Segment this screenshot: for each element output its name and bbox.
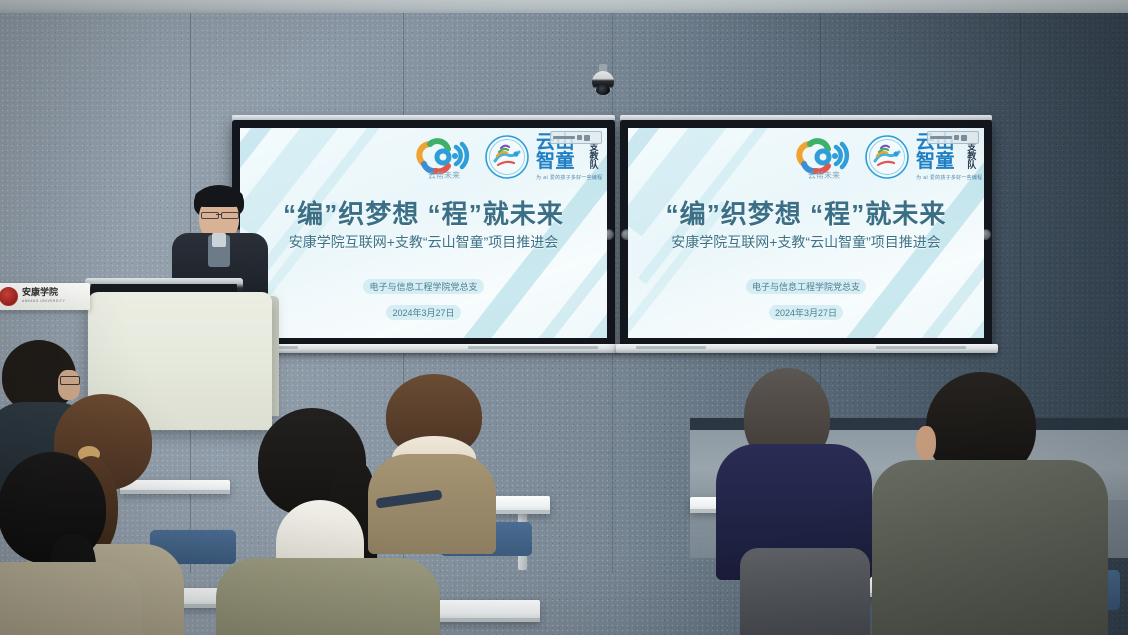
conference-room-photo: 云帮未来 — [0, 0, 1128, 635]
left-display[interactable]: 云帮未来 — [232, 120, 615, 348]
cloud-logo-label: 云帮未来 — [428, 170, 460, 180]
left-slide-org-wrap: 电子与信息工程学院党总支 — [240, 279, 607, 294]
cloud-logo-label: 云帮未来 — [808, 170, 840, 180]
left-display-panel[interactable]: 云帮未来 — [240, 128, 607, 338]
cloud-logo-icon: 云帮未来 — [410, 134, 478, 180]
yunshan-badge-icon — [485, 135, 529, 179]
camera-body — [592, 71, 614, 93]
right-display-shelf — [616, 344, 998, 353]
right-slide-subtitle: 安康学院互联网+支教“云山智童”项目推进会 — [628, 232, 984, 252]
cloud-logo-icon: 云帮未来 — [790, 134, 858, 180]
right-slide-date-wrap: 2024年3月27日 — [628, 305, 984, 320]
university-name-en: ANKANG UNIVERSITY — [22, 300, 65, 303]
brand-suffix-text: 支教队 — [967, 144, 984, 171]
right-display[interactable]: 云帮未来 — [620, 120, 992, 348]
audience-member — [722, 368, 868, 635]
slide-toolbar-chip[interactable] — [550, 131, 602, 144]
right-slide: 云帮未来 — [628, 128, 984, 338]
left-slide: 云帮未来 — [240, 128, 607, 338]
left-slide-org: 电子与信息工程学院党总支 — [363, 279, 483, 294]
display-top-bezel — [620, 115, 992, 120]
camera-lens — [596, 85, 610, 95]
right-slide-title: “编”织梦想 “程”就未来 — [628, 194, 984, 231]
right-slide-date: 2024年3月27日 — [769, 305, 843, 320]
right-slide-org: 电子与信息工程学院党总支 — [746, 279, 866, 294]
right-slide-org-wrap: 电子与信息工程学院党总支 — [628, 279, 984, 294]
ceiling-camera-icon — [592, 64, 614, 100]
left-display-shelf — [228, 344, 620, 353]
slide-toolbar-chip[interactable] — [927, 131, 979, 144]
audience-member — [368, 374, 498, 524]
coat-on-chair — [740, 548, 870, 635]
left-slide-date-wrap: 2024年3月27日 — [240, 305, 607, 320]
left-slide-title: “编”织梦想 “程”就未来 — [240, 194, 607, 231]
left-slide-date: 2024年3月27日 — [386, 305, 460, 320]
brand-tagline: 为 ai 爱的孩子多好一些编程 — [536, 174, 607, 181]
display-top-bezel — [232, 115, 615, 120]
right-display-panel[interactable]: 云帮未来 — [628, 128, 984, 338]
audience-member — [888, 372, 1094, 635]
yunshan-badge-icon — [865, 135, 909, 179]
ceiling — [0, 0, 1128, 14]
university-name: 安康学院 — [22, 289, 65, 298]
brand-tagline: 为 ai 爱的孩子多好一些编程 — [916, 174, 984, 181]
brand-suffix-text: 支教队 — [590, 144, 607, 171]
audience-member — [0, 452, 120, 635]
left-slide-subtitle: 安康学院互联网+支教“云山智童”项目推进会 — [240, 232, 607, 252]
university-sign: 安康学院 ANKANG UNIVERSITY — [0, 283, 90, 310]
university-seal-icon — [0, 287, 18, 306]
